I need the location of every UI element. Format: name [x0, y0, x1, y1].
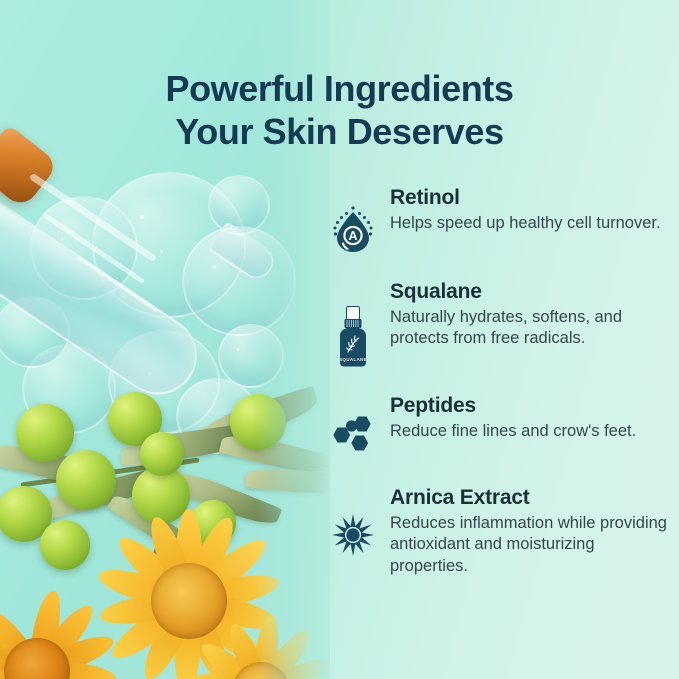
ingredient-description: Naturally hydrates, softens, and protect… [390, 307, 670, 350]
bubble-speck [212, 265, 216, 269]
arnica-flower-icon [322, 486, 384, 560]
bubble-speck [236, 348, 239, 351]
ingredient-text: Squalane Naturally hydrates, softens, an… [384, 280, 670, 350]
ingredient-text: Peptides Reduce fine lines and crow's fe… [384, 394, 670, 442]
ingredient-text: Arnica Extract Reduces inflammation whil… [384, 486, 670, 577]
page-title: Powerful Ingredients Your Skin Deserves [0, 68, 679, 153]
bubble-speck [160, 250, 163, 253]
ingredient-description: Helps speed up healthy cell turnover. [390, 213, 670, 234]
squalane-bottle-icon: SQUALANE [322, 280, 384, 368]
bubble-speck [60, 238, 63, 241]
olive-fruit [140, 432, 184, 476]
arnica-flower [0, 576, 132, 679]
ingredients-infographic: Powerful Ingredients Your Skin Deserves [0, 0, 679, 679]
olive-fruit [40, 520, 90, 570]
olive-fruit [16, 404, 74, 462]
peptides-molecule-icon [322, 394, 384, 460]
ingredient-text: Retinol Helps speed up healthy cell turn… [384, 186, 670, 234]
svg-text:A: A [348, 229, 357, 243]
ingredient-description: Reduce fine lines and crow's feet. [390, 421, 670, 442]
ingredient-title: Peptides [390, 394, 670, 418]
ingredient-description: Reduces inflammation while providing ant… [390, 513, 670, 577]
list-item: Arnica Extract Reduces inflammation whil… [322, 486, 670, 577]
list-item: A Retinol Helps speed up healthy cell tu… [322, 186, 670, 254]
list-item: Peptides Reduce fine lines and crow's fe… [322, 394, 670, 460]
bubble-speck [140, 215, 144, 219]
list-item: SQUALANE Squalane Naturally hydrates, so… [322, 280, 670, 368]
ingredient-list: A Retinol Helps speed up healthy cell tu… [322, 186, 670, 603]
ingredient-title: Retinol [390, 186, 670, 210]
ingredient-title: Squalane [390, 280, 670, 304]
ingredient-title: Arnica Extract [390, 486, 670, 510]
bottle-label: SQUALANE [339, 357, 367, 362]
retinol-droplet-icon: A [322, 186, 384, 254]
